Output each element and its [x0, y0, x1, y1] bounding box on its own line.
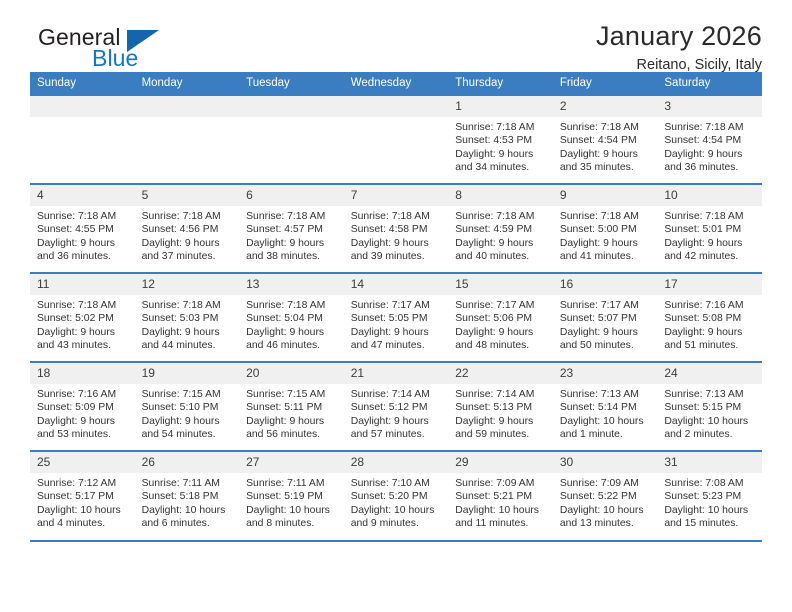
daylight-line: Daylight: 9 hours [664, 148, 756, 161]
day-cell-content: 4Sunrise: 7:18 AMSunset: 4:55 PMDaylight… [30, 185, 135, 272]
day-number: 22 [448, 363, 553, 384]
calendar-week-row: 25Sunrise: 7:12 AMSunset: 5:17 PMDayligh… [30, 451, 762, 540]
calendar-day-cell[interactable]: 4Sunrise: 7:18 AMSunset: 4:55 PMDaylight… [30, 184, 135, 273]
day-cell-content [30, 96, 135, 183]
daylight-line-cont: and 40 minutes. [455, 250, 547, 263]
sunrise-line: Sunrise: 7:17 AM [560, 299, 652, 312]
day-number: 31 [657, 452, 762, 473]
location-subtitle: Reitano, Sicily, Italy [596, 58, 762, 74]
sunset-line: Sunset: 5:17 PM [37, 490, 129, 503]
sunrise-line: Sunrise: 7:08 AM [664, 477, 756, 490]
daylight-line: Daylight: 9 hours [37, 326, 129, 339]
daylight-line-cont: and 34 minutes. [455, 161, 547, 174]
daylight-line: Daylight: 9 hours [351, 326, 443, 339]
daylight-line-cont: and 54 minutes. [142, 428, 234, 441]
day-cell-content: 17Sunrise: 7:16 AMSunset: 5:08 PMDayligh… [657, 274, 762, 361]
daylight-line: Daylight: 9 hours [142, 237, 234, 250]
day-cell-content: 22Sunrise: 7:14 AMSunset: 5:13 PMDayligh… [448, 363, 553, 450]
daylight-line-cont: and 36 minutes. [37, 250, 129, 263]
calendar-day-cell[interactable]: 1Sunrise: 7:18 AMSunset: 4:53 PMDaylight… [448, 95, 553, 184]
day-number: 12 [135, 274, 240, 295]
daylight-line-cont: and 53 minutes. [37, 428, 129, 441]
sun-info: Sunrise: 7:10 AMSunset: 5:20 PMDaylight:… [344, 473, 449, 530]
day-cell-content: 21Sunrise: 7:14 AMSunset: 5:12 PMDayligh… [344, 363, 449, 450]
daylight-line: Daylight: 10 hours [37, 504, 129, 517]
sunrise-line: Sunrise: 7:18 AM [246, 210, 338, 223]
sun-info: Sunrise: 7:08 AMSunset: 5:23 PMDaylight:… [657, 473, 762, 530]
calendar-day-cell[interactable]: 10Sunrise: 7:18 AMSunset: 5:01 PMDayligh… [657, 184, 762, 273]
sunset-line: Sunset: 4:58 PM [351, 223, 443, 236]
daylight-line-cont: and 2 minutes. [664, 428, 756, 441]
day-number: 27 [239, 452, 344, 473]
day-number: 20 [239, 363, 344, 384]
day-cell-content: 26Sunrise: 7:11 AMSunset: 5:18 PMDayligh… [135, 452, 240, 540]
daylight-line-cont: and 48 minutes. [455, 339, 547, 352]
daylight-line: Daylight: 9 hours [455, 326, 547, 339]
sun-info: Sunrise: 7:17 AMSunset: 5:06 PMDaylight:… [448, 295, 553, 352]
day-cell-content: 23Sunrise: 7:13 AMSunset: 5:14 PMDayligh… [553, 363, 658, 450]
calendar-grid: SundayMondayTuesdayWednesdayThursdayFrid… [30, 72, 762, 540]
sun-info [30, 117, 135, 121]
sun-info: Sunrise: 7:18 AMSunset: 4:57 PMDaylight:… [239, 206, 344, 263]
day-number [344, 96, 449, 117]
sunset-line: Sunset: 5:00 PM [560, 223, 652, 236]
sunrise-line: Sunrise: 7:18 AM [37, 299, 129, 312]
daylight-line-cont: and 47 minutes. [351, 339, 443, 352]
sunrise-line: Sunrise: 7:15 AM [142, 388, 234, 401]
sunset-line: Sunset: 5:14 PM [560, 401, 652, 414]
daylight-line-cont: and 6 minutes. [142, 517, 234, 530]
weekday-header-sunday: Sunday [30, 72, 135, 95]
sunrise-line: Sunrise: 7:09 AM [455, 477, 547, 490]
daylight-line-cont: and 46 minutes. [246, 339, 338, 352]
sunset-line: Sunset: 4:56 PM [142, 223, 234, 236]
sunset-line: Sunset: 5:23 PM [664, 490, 756, 503]
sunset-line: Sunset: 5:20 PM [351, 490, 443, 503]
day-number: 16 [553, 274, 658, 295]
sunrise-line: Sunrise: 7:18 AM [246, 299, 338, 312]
daylight-line-cont: and 39 minutes. [351, 250, 443, 263]
sunrise-line: Sunrise: 7:18 AM [142, 210, 234, 223]
calendar-day-cell[interactable]: 28Sunrise: 7:10 AMSunset: 5:20 PMDayligh… [344, 451, 449, 540]
sunrise-line: Sunrise: 7:18 AM [455, 210, 547, 223]
day-cell-content: 28Sunrise: 7:10 AMSunset: 5:20 PMDayligh… [344, 452, 449, 540]
sunset-line: Sunset: 4:55 PM [37, 223, 129, 236]
calendar-day-cell[interactable]: 9Sunrise: 7:18 AMSunset: 5:00 PMDaylight… [553, 184, 658, 273]
daylight-line-cont: and 38 minutes. [246, 250, 338, 263]
daylight-line: Daylight: 10 hours [142, 504, 234, 517]
day-number: 26 [135, 452, 240, 473]
sunrise-line: Sunrise: 7:18 AM [664, 121, 756, 134]
sunset-line: Sunset: 5:05 PM [351, 312, 443, 325]
sunrise-line: Sunrise: 7:18 AM [37, 210, 129, 223]
sunset-line: Sunset: 5:10 PM [142, 401, 234, 414]
day-cell-content: 6Sunrise: 7:18 AMSunset: 4:57 PMDaylight… [239, 185, 344, 272]
sun-info: Sunrise: 7:18 AMSunset: 4:55 PMDaylight:… [30, 206, 135, 263]
sun-info: Sunrise: 7:18 AMSunset: 5:00 PMDaylight:… [553, 206, 658, 263]
sunset-line: Sunset: 4:57 PM [246, 223, 338, 236]
day-cell-content: 7Sunrise: 7:18 AMSunset: 4:58 PMDaylight… [344, 185, 449, 272]
calendar-day-cell[interactable]: 8Sunrise: 7:18 AMSunset: 4:59 PMDaylight… [448, 184, 553, 273]
sunset-line: Sunset: 4:59 PM [455, 223, 547, 236]
sunset-line: Sunset: 5:03 PM [142, 312, 234, 325]
sun-info: Sunrise: 7:15 AMSunset: 5:10 PMDaylight:… [135, 384, 240, 441]
day-number: 18 [30, 363, 135, 384]
grid-bottom-rule [30, 540, 762, 542]
day-cell-content [344, 96, 449, 183]
sun-info: Sunrise: 7:18 AMSunset: 4:53 PMDaylight:… [448, 117, 553, 174]
sun-info: Sunrise: 7:18 AMSunset: 4:54 PMDaylight:… [553, 117, 658, 174]
day-cell-content: 29Sunrise: 7:09 AMSunset: 5:21 PMDayligh… [448, 452, 553, 540]
sunrise-line: Sunrise: 7:11 AM [142, 477, 234, 490]
calendar-day-cell[interactable]: 20Sunrise: 7:15 AMSunset: 5:11 PMDayligh… [239, 362, 344, 451]
weekday-header-wednesday: Wednesday [344, 72, 449, 95]
calendar-page: General Blue January 2026 Reitano, Sicil… [0, 0, 792, 612]
sunrise-line: Sunrise: 7:18 AM [455, 121, 547, 134]
weekday-header-saturday: Saturday [657, 72, 762, 95]
daylight-line: Daylight: 9 hours [560, 326, 652, 339]
day-number: 14 [344, 274, 449, 295]
sunset-line: Sunset: 5:12 PM [351, 401, 443, 414]
sun-info [135, 117, 240, 121]
daylight-line: Daylight: 10 hours [560, 415, 652, 428]
day-number: 29 [448, 452, 553, 473]
sunrise-line: Sunrise: 7:15 AM [246, 388, 338, 401]
sun-info: Sunrise: 7:16 AMSunset: 5:09 PMDaylight:… [30, 384, 135, 441]
sun-info: Sunrise: 7:18 AMSunset: 4:59 PMDaylight:… [448, 206, 553, 263]
sunset-line: Sunset: 5:18 PM [142, 490, 234, 503]
sunset-line: Sunset: 5:11 PM [246, 401, 338, 414]
day-cell-content: 20Sunrise: 7:15 AMSunset: 5:11 PMDayligh… [239, 363, 344, 450]
calendar-empty-cell [135, 95, 240, 184]
daylight-line: Daylight: 9 hours [664, 237, 756, 250]
day-cell-content: 12Sunrise: 7:18 AMSunset: 5:03 PMDayligh… [135, 274, 240, 361]
day-number: 17 [657, 274, 762, 295]
sunrise-line: Sunrise: 7:16 AM [664, 299, 756, 312]
sunset-line: Sunset: 4:54 PM [664, 134, 756, 147]
calendar-day-cell[interactable]: 13Sunrise: 7:18 AMSunset: 5:04 PMDayligh… [239, 273, 344, 362]
sunrise-line: Sunrise: 7:13 AM [560, 388, 652, 401]
calendar-day-cell[interactable]: 26Sunrise: 7:11 AMSunset: 5:18 PMDayligh… [135, 451, 240, 540]
sunrise-line: Sunrise: 7:17 AM [351, 299, 443, 312]
sunrise-line: Sunrise: 7:16 AM [37, 388, 129, 401]
daylight-line-cont: and 4 minutes. [37, 517, 129, 530]
day-number: 19 [135, 363, 240, 384]
calendar-week-row: 1Sunrise: 7:18 AMSunset: 4:53 PMDaylight… [30, 95, 762, 184]
calendar-day-cell[interactable]: 17Sunrise: 7:16 AMSunset: 5:08 PMDayligh… [657, 273, 762, 362]
daylight-line: Daylight: 9 hours [246, 415, 338, 428]
daylight-line-cont: and 59 minutes. [455, 428, 547, 441]
day-number: 11 [30, 274, 135, 295]
day-cell-content: 31Sunrise: 7:08 AMSunset: 5:23 PMDayligh… [657, 452, 762, 540]
calendar-day-cell[interactable]: 11Sunrise: 7:18 AMSunset: 5:02 PMDayligh… [30, 273, 135, 362]
sunset-line: Sunset: 4:53 PM [455, 134, 547, 147]
day-cell-content: 2Sunrise: 7:18 AMSunset: 4:54 PMDaylight… [553, 96, 658, 183]
daylight-line-cont: and 37 minutes. [142, 250, 234, 263]
daylight-line: Daylight: 9 hours [455, 237, 547, 250]
daylight-line: Daylight: 9 hours [37, 415, 129, 428]
sunrise-line: Sunrise: 7:14 AM [351, 388, 443, 401]
sunset-line: Sunset: 5:01 PM [664, 223, 756, 236]
sun-info: Sunrise: 7:11 AMSunset: 5:18 PMDaylight:… [135, 473, 240, 530]
day-cell-content: 15Sunrise: 7:17 AMSunset: 5:06 PMDayligh… [448, 274, 553, 361]
day-cell-content: 27Sunrise: 7:11 AMSunset: 5:19 PMDayligh… [239, 452, 344, 540]
sunrise-line: Sunrise: 7:18 AM [351, 210, 443, 223]
sun-info: Sunrise: 7:11 AMSunset: 5:19 PMDaylight:… [239, 473, 344, 530]
sunset-line: Sunset: 5:19 PM [246, 490, 338, 503]
sun-info: Sunrise: 7:12 AMSunset: 5:17 PMDaylight:… [30, 473, 135, 530]
daylight-line: Daylight: 9 hours [455, 148, 547, 161]
title-block: January 2026 Reitano, Sicily, Italy [596, 22, 762, 74]
calendar-day-cell[interactable]: 21Sunrise: 7:14 AMSunset: 5:12 PMDayligh… [344, 362, 449, 451]
day-number: 13 [239, 274, 344, 295]
sunset-line: Sunset: 5:15 PM [664, 401, 756, 414]
day-number: 3 [657, 96, 762, 117]
calendar-day-cell[interactable]: 12Sunrise: 7:18 AMSunset: 5:03 PMDayligh… [135, 273, 240, 362]
day-number: 25 [30, 452, 135, 473]
day-cell-content: 8Sunrise: 7:18 AMSunset: 4:59 PMDaylight… [448, 185, 553, 272]
sunset-line: Sunset: 5:06 PM [455, 312, 547, 325]
day-cell-content: 24Sunrise: 7:13 AMSunset: 5:15 PMDayligh… [657, 363, 762, 450]
day-number: 5 [135, 185, 240, 206]
daylight-line-cont: and 43 minutes. [37, 339, 129, 352]
day-cell-content: 30Sunrise: 7:09 AMSunset: 5:22 PMDayligh… [553, 452, 658, 540]
sunrise-line: Sunrise: 7:18 AM [560, 210, 652, 223]
daylight-line-cont: and 11 minutes. [455, 517, 547, 530]
daylight-line-cont: and 36 minutes. [664, 161, 756, 174]
calendar-week-row: 4Sunrise: 7:18 AMSunset: 4:55 PMDaylight… [30, 184, 762, 273]
day-cell-content: 11Sunrise: 7:18 AMSunset: 5:02 PMDayligh… [30, 274, 135, 361]
sun-info [344, 117, 449, 121]
day-number: 1 [448, 96, 553, 117]
weekday-header-friday: Friday [553, 72, 658, 95]
daylight-line-cont: and 1 minute. [560, 428, 652, 441]
day-number [135, 96, 240, 117]
calendar-day-cell[interactable]: 30Sunrise: 7:09 AMSunset: 5:22 PMDayligh… [553, 451, 658, 540]
daylight-line: Daylight: 9 hours [246, 237, 338, 250]
sun-info: Sunrise: 7:09 AMSunset: 5:21 PMDaylight:… [448, 473, 553, 530]
day-number: 6 [239, 185, 344, 206]
day-number [239, 96, 344, 117]
logo-text-blue: Blue [92, 47, 138, 70]
day-cell-content: 25Sunrise: 7:12 AMSunset: 5:17 PMDayligh… [30, 452, 135, 540]
sunrise-line: Sunrise: 7:18 AM [664, 210, 756, 223]
weekday-header-monday: Monday [135, 72, 240, 95]
calendar-day-cell[interactable]: 2Sunrise: 7:18 AMSunset: 4:54 PMDaylight… [553, 95, 658, 184]
day-cell-content: 3Sunrise: 7:18 AMSunset: 4:54 PMDaylight… [657, 96, 762, 183]
sun-info: Sunrise: 7:13 AMSunset: 5:14 PMDaylight:… [553, 384, 658, 441]
daylight-line: Daylight: 9 hours [664, 326, 756, 339]
day-number: 24 [657, 363, 762, 384]
daylight-line: Daylight: 10 hours [455, 504, 547, 517]
day-cell-content [135, 96, 240, 183]
daylight-line-cont: and 15 minutes. [664, 517, 756, 530]
calendar-day-cell[interactable]: 6Sunrise: 7:18 AMSunset: 4:57 PMDaylight… [239, 184, 344, 273]
daylight-line: Daylight: 9 hours [560, 148, 652, 161]
daylight-line-cont: and 42 minutes. [664, 250, 756, 263]
calendar-day-cell[interactable]: 23Sunrise: 7:13 AMSunset: 5:14 PMDayligh… [553, 362, 658, 451]
daylight-line: Daylight: 9 hours [351, 415, 443, 428]
sunrise-line: Sunrise: 7:13 AM [664, 388, 756, 401]
daylight-line: Daylight: 10 hours [246, 504, 338, 517]
calendar-day-cell[interactable]: 18Sunrise: 7:16 AMSunset: 5:09 PMDayligh… [30, 362, 135, 451]
sunset-line: Sunset: 5:04 PM [246, 312, 338, 325]
calendar-empty-cell [239, 95, 344, 184]
day-cell-content: 18Sunrise: 7:16 AMSunset: 5:09 PMDayligh… [30, 363, 135, 450]
sunrise-line: Sunrise: 7:10 AM [351, 477, 443, 490]
sun-info: Sunrise: 7:18 AMSunset: 5:03 PMDaylight:… [135, 295, 240, 352]
daylight-line: Daylight: 9 hours [142, 326, 234, 339]
calendar-day-cell[interactable]: 24Sunrise: 7:13 AMSunset: 5:15 PMDayligh… [657, 362, 762, 451]
calendar-day-cell[interactable]: 19Sunrise: 7:15 AMSunset: 5:10 PMDayligh… [135, 362, 240, 451]
daylight-line-cont: and 8 minutes. [246, 517, 338, 530]
day-cell-content: 16Sunrise: 7:17 AMSunset: 5:07 PMDayligh… [553, 274, 658, 361]
generalblue-logo[interactable]: General Blue [30, 22, 180, 74]
daylight-line-cont: and 41 minutes. [560, 250, 652, 263]
day-cell-content: 5Sunrise: 7:18 AMSunset: 4:56 PMDaylight… [135, 185, 240, 272]
daylight-line: Daylight: 9 hours [351, 237, 443, 250]
calendar-day-cell[interactable]: 3Sunrise: 7:18 AMSunset: 4:54 PMDaylight… [657, 95, 762, 184]
sun-info: Sunrise: 7:15 AMSunset: 5:11 PMDaylight:… [239, 384, 344, 441]
day-number [30, 96, 135, 117]
sunrise-line: Sunrise: 7:18 AM [142, 299, 234, 312]
sun-info: Sunrise: 7:18 AMSunset: 4:56 PMDaylight:… [135, 206, 240, 263]
sunset-line: Sunset: 5:22 PM [560, 490, 652, 503]
daylight-line-cont: and 9 minutes. [351, 517, 443, 530]
daylight-line: Daylight: 9 hours [142, 415, 234, 428]
sun-info: Sunrise: 7:16 AMSunset: 5:08 PMDaylight:… [657, 295, 762, 352]
daylight-line: Daylight: 10 hours [664, 504, 756, 517]
day-number: 7 [344, 185, 449, 206]
sun-info: Sunrise: 7:18 AMSunset: 5:01 PMDaylight:… [657, 206, 762, 263]
sunrise-line: Sunrise: 7:11 AM [246, 477, 338, 490]
daylight-line-cont: and 56 minutes. [246, 428, 338, 441]
day-cell-content: 13Sunrise: 7:18 AMSunset: 5:04 PMDayligh… [239, 274, 344, 361]
calendar-day-cell[interactable]: 16Sunrise: 7:17 AMSunset: 5:07 PMDayligh… [553, 273, 658, 362]
sunrise-line: Sunrise: 7:09 AM [560, 477, 652, 490]
sunset-line: Sunset: 5:13 PM [455, 401, 547, 414]
sunset-line: Sunset: 5:02 PM [37, 312, 129, 325]
day-number: 23 [553, 363, 658, 384]
sunrise-line: Sunrise: 7:17 AM [455, 299, 547, 312]
weekday-header-tuesday: Tuesday [239, 72, 344, 95]
day-cell-content: 9Sunrise: 7:18 AMSunset: 5:00 PMDaylight… [553, 185, 658, 272]
calendar-body: 1Sunrise: 7:18 AMSunset: 4:53 PMDaylight… [30, 95, 762, 540]
sunset-line: Sunset: 5:21 PM [455, 490, 547, 503]
calendar-empty-cell [30, 95, 135, 184]
day-number: 9 [553, 185, 658, 206]
sunrise-line: Sunrise: 7:18 AM [560, 121, 652, 134]
day-cell-content: 1Sunrise: 7:18 AMSunset: 4:53 PMDaylight… [448, 96, 553, 183]
sunrise-line: Sunrise: 7:12 AM [37, 477, 129, 490]
calendar-day-cell[interactable]: 15Sunrise: 7:17 AMSunset: 5:06 PMDayligh… [448, 273, 553, 362]
sun-info: Sunrise: 7:18 AMSunset: 4:58 PMDaylight:… [344, 206, 449, 263]
sun-info: Sunrise: 7:18 AMSunset: 4:54 PMDaylight:… [657, 117, 762, 174]
calendar-day-cell[interactable]: 25Sunrise: 7:12 AMSunset: 5:17 PMDayligh… [30, 451, 135, 540]
day-number: 21 [344, 363, 449, 384]
day-number: 4 [30, 185, 135, 206]
day-cell-content: 10Sunrise: 7:18 AMSunset: 5:01 PMDayligh… [657, 185, 762, 272]
daylight-line: Daylight: 10 hours [560, 504, 652, 517]
daylight-line: Daylight: 10 hours [351, 504, 443, 517]
calendar-empty-cell [344, 95, 449, 184]
sun-info: Sunrise: 7:09 AMSunset: 5:22 PMDaylight:… [553, 473, 658, 530]
calendar-day-cell[interactable]: 7Sunrise: 7:18 AMSunset: 4:58 PMDaylight… [344, 184, 449, 273]
daylight-line-cont: and 51 minutes. [664, 339, 756, 352]
sun-info [239, 117, 344, 121]
daylight-line: Daylight: 10 hours [664, 415, 756, 428]
daylight-line: Daylight: 9 hours [37, 237, 129, 250]
day-number: 8 [448, 185, 553, 206]
sun-info: Sunrise: 7:14 AMSunset: 5:12 PMDaylight:… [344, 384, 449, 441]
calendar-day-cell[interactable]: 22Sunrise: 7:14 AMSunset: 5:13 PMDayligh… [448, 362, 553, 451]
daylight-line-cont: and 44 minutes. [142, 339, 234, 352]
calendar-day-cell[interactable]: 5Sunrise: 7:18 AMSunset: 4:56 PMDaylight… [135, 184, 240, 273]
weekday-header-row: SundayMondayTuesdayWednesdayThursdayFrid… [30, 72, 762, 95]
weekday-header-thursday: Thursday [448, 72, 553, 95]
calendar-day-cell[interactable]: 29Sunrise: 7:09 AMSunset: 5:21 PMDayligh… [448, 451, 553, 540]
sunrise-line: Sunrise: 7:14 AM [455, 388, 547, 401]
day-cell-content: 19Sunrise: 7:15 AMSunset: 5:10 PMDayligh… [135, 363, 240, 450]
daylight-line-cont: and 50 minutes. [560, 339, 652, 352]
page-title: January 2026 [596, 22, 762, 50]
sun-info: Sunrise: 7:17 AMSunset: 5:05 PMDaylight:… [344, 295, 449, 352]
sun-info: Sunrise: 7:18 AMSunset: 5:02 PMDaylight:… [30, 295, 135, 352]
calendar-week-row: 18Sunrise: 7:16 AMSunset: 5:09 PMDayligh… [30, 362, 762, 451]
calendar-day-cell[interactable]: 14Sunrise: 7:17 AMSunset: 5:05 PMDayligh… [344, 273, 449, 362]
calendar-day-cell[interactable]: 27Sunrise: 7:11 AMSunset: 5:19 PMDayligh… [239, 451, 344, 540]
calendar-week-row: 11Sunrise: 7:18 AMSunset: 5:02 PMDayligh… [30, 273, 762, 362]
daylight-line: Daylight: 9 hours [560, 237, 652, 250]
daylight-line: Daylight: 9 hours [455, 415, 547, 428]
daylight-line: Daylight: 9 hours [246, 326, 338, 339]
daylight-line-cont: and 13 minutes. [560, 517, 652, 530]
day-number: 2 [553, 96, 658, 117]
calendar-day-cell[interactable]: 31Sunrise: 7:08 AMSunset: 5:23 PMDayligh… [657, 451, 762, 540]
page-header: General Blue January 2026 Reitano, Sicil… [30, 0, 762, 72]
daylight-line-cont: and 57 minutes. [351, 428, 443, 441]
sunset-line: Sunset: 5:07 PM [560, 312, 652, 325]
day-cell-content [239, 96, 344, 183]
day-cell-content: 14Sunrise: 7:17 AMSunset: 5:05 PMDayligh… [344, 274, 449, 361]
sunset-line: Sunset: 4:54 PM [560, 134, 652, 147]
sun-info: Sunrise: 7:18 AMSunset: 5:04 PMDaylight:… [239, 295, 344, 352]
sun-info: Sunrise: 7:13 AMSunset: 5:15 PMDaylight:… [657, 384, 762, 441]
day-number: 10 [657, 185, 762, 206]
sunset-line: Sunset: 5:09 PM [37, 401, 129, 414]
sun-info: Sunrise: 7:14 AMSunset: 5:13 PMDaylight:… [448, 384, 553, 441]
day-number: 15 [448, 274, 553, 295]
daylight-line-cont: and 35 minutes. [560, 161, 652, 174]
sun-info: Sunrise: 7:17 AMSunset: 5:07 PMDaylight:… [553, 295, 658, 352]
day-number: 30 [553, 452, 658, 473]
sunset-line: Sunset: 5:08 PM [664, 312, 756, 325]
day-number: 28 [344, 452, 449, 473]
